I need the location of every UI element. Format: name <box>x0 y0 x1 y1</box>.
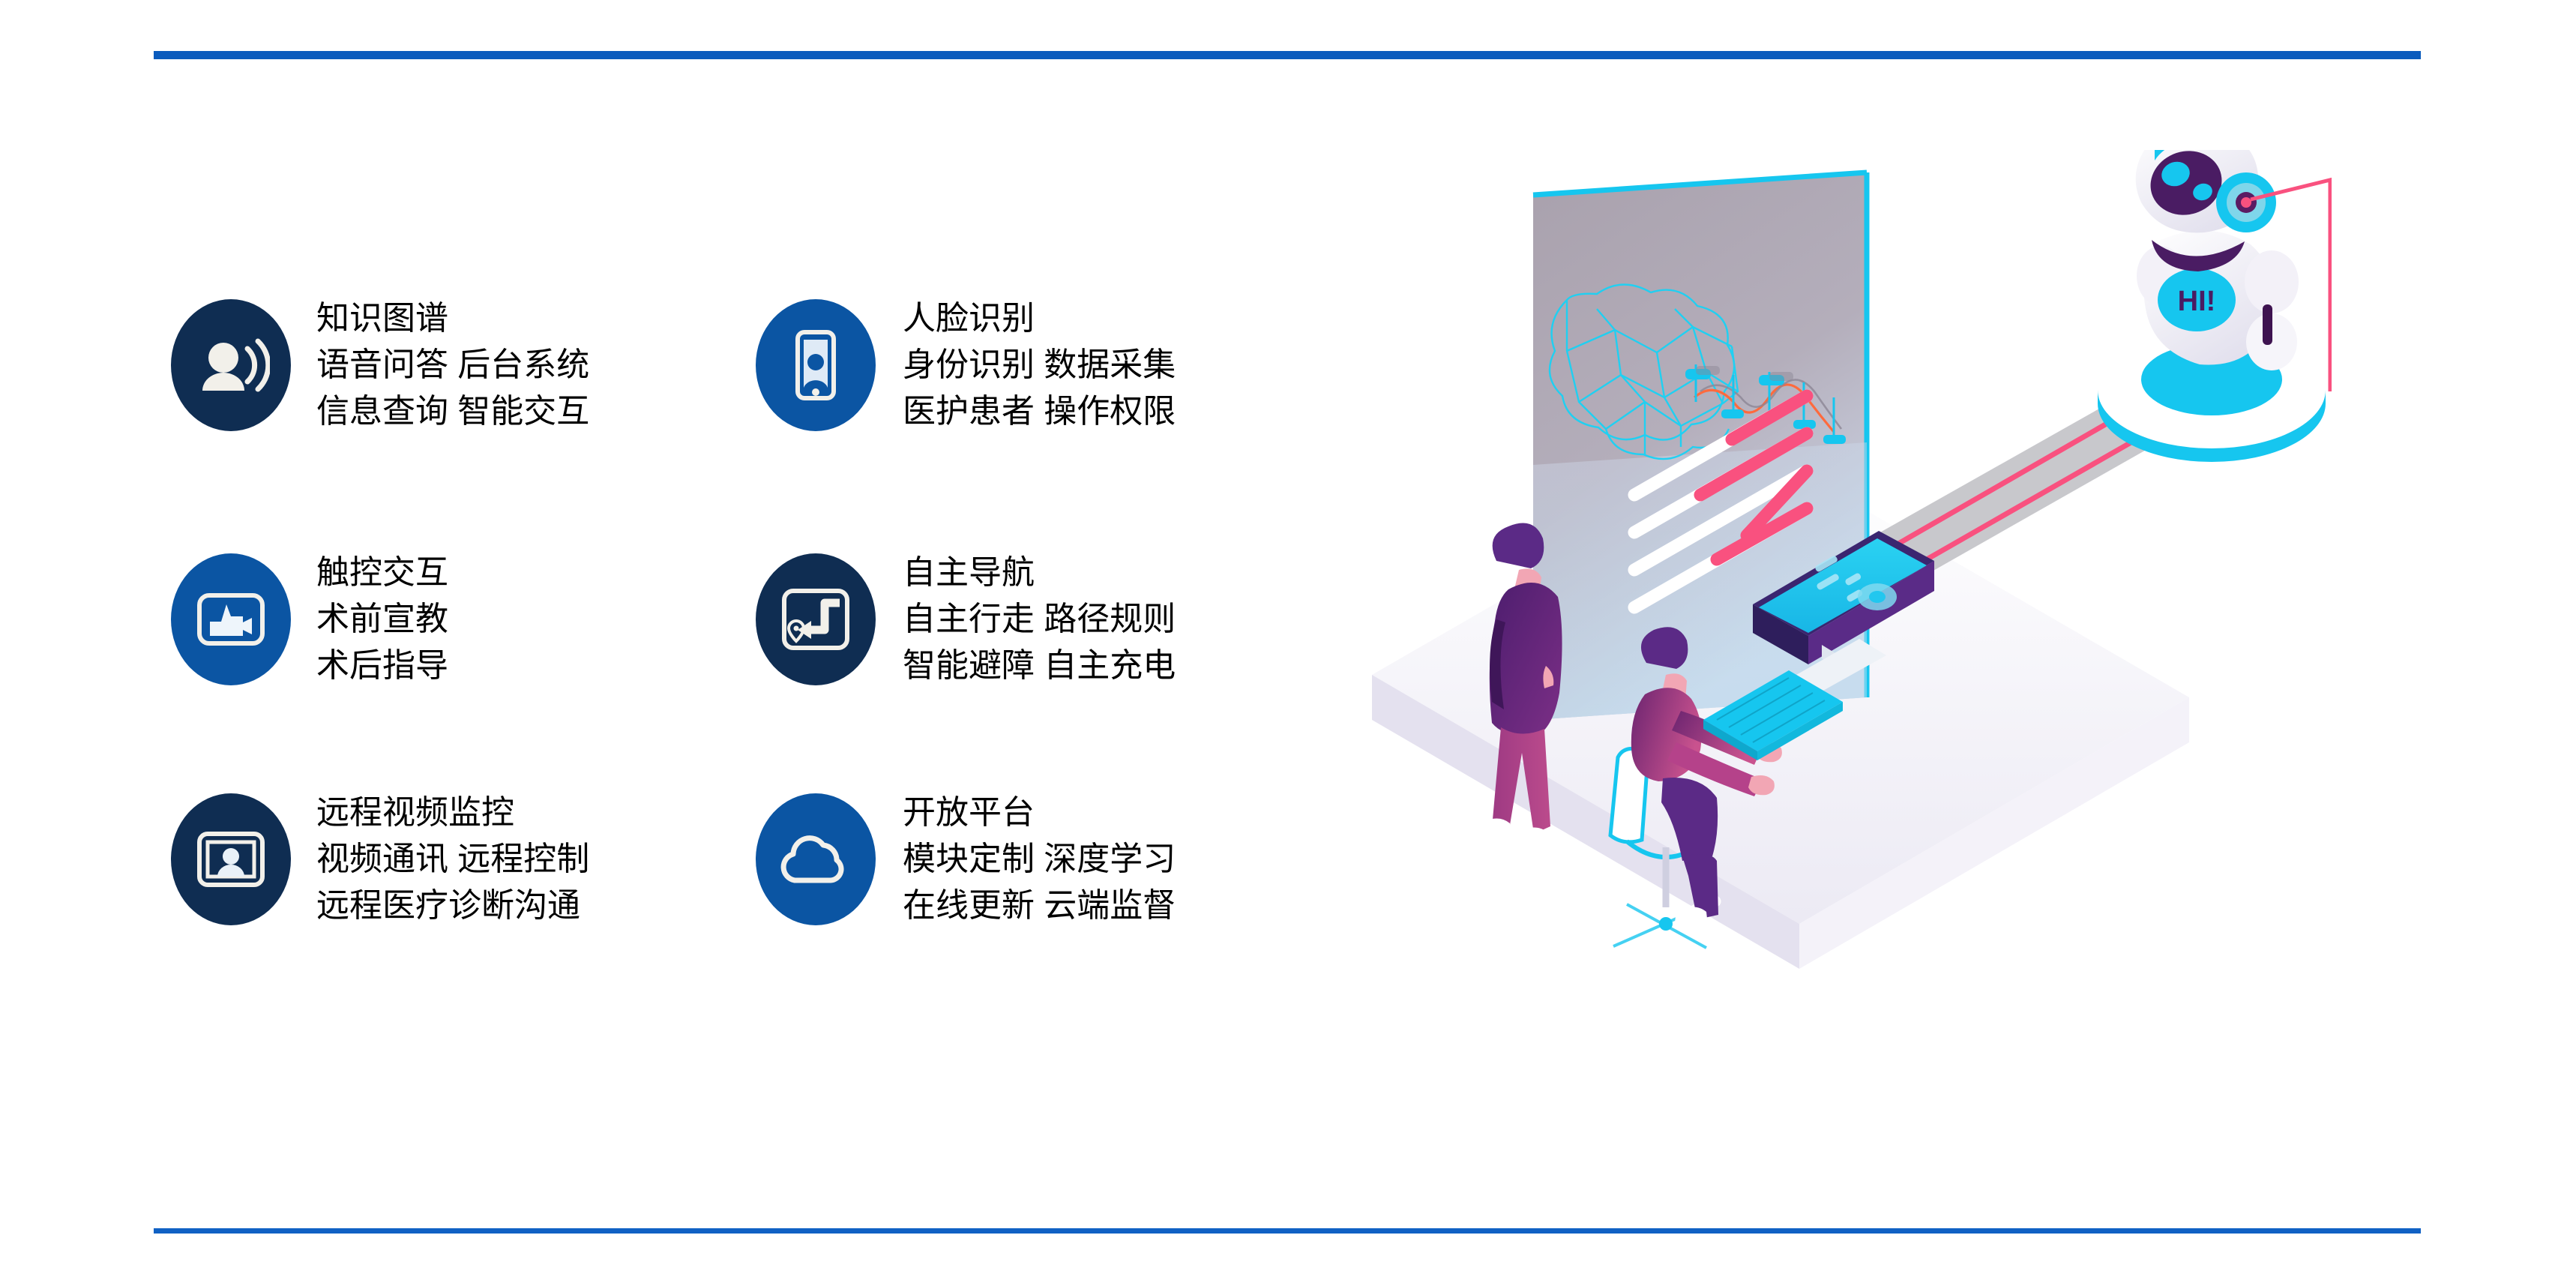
top-divider-rule <box>154 51 2421 59</box>
video-monitor-icon <box>171 793 291 925</box>
feature-line: 远程医疗诊断沟通 <box>316 883 589 929</box>
feature-item-autonomous-navigation[interactable]: 自主导航 自主行走 路径规则 智能避障 自主充电 <box>756 492 1340 747</box>
bottom-divider-rule <box>154 1228 2421 1234</box>
feature-line: 视频通讯 远程控制 <box>316 836 589 883</box>
feature-text: 人脸识别 身份识别 数据采集 医护患者 操作权限 <box>903 295 1176 435</box>
feature-item-knowledge-graph[interactable]: 知识图谱 语音问答 后台系统 信息查询 智能交互 <box>171 238 756 492</box>
feature-line: 自主导航 <box>903 550 1176 596</box>
feature-item-touch-interaction[interactable]: 触控交互 术前宣教 术后指导 <box>171 492 756 747</box>
touch-hand-icon <box>171 553 291 685</box>
feature-list: 知识图谱 语音问答 后台系统 信息查询 智能交互 人脸识别 身份识别 数据采集 … <box>171 238 1340 972</box>
service-robot: HI! <box>2098 150 2330 462</box>
feature-line: 术后指导 <box>316 643 448 689</box>
feature-line: 自主行走 路径规则 <box>903 596 1176 643</box>
robot-badge-label: HI! <box>2178 286 2216 317</box>
feature-line: 远程视频监控 <box>316 790 589 836</box>
feature-line: 触控交互 <box>316 550 448 596</box>
feature-text: 远程视频监控 视频通讯 远程控制 远程医疗诊断沟通 <box>316 790 589 929</box>
feature-line: 模块定制 深度学习 <box>903 836 1176 883</box>
feature-line: 医护患者 操作权限 <box>903 388 1176 435</box>
feature-line: 信息查询 智能交互 <box>316 388 589 435</box>
cloud-icon <box>756 793 876 925</box>
feature-line: 人脸识别 <box>903 295 1176 342</box>
feature-item-remote-video[interactable]: 远程视频监控 视频通讯 远程控制 远程医疗诊断沟通 <box>171 747 756 972</box>
feature-text: 自主导航 自主行走 路径规则 智能避障 自主充电 <box>903 550 1176 689</box>
feature-line: 在线更新 云端监督 <box>903 883 1176 929</box>
feature-text: 知识图谱 语音问答 后台系统 信息查询 智能交互 <box>316 295 589 435</box>
feature-item-face-recognition[interactable]: 人脸识别 身份识别 数据采集 医护患者 操作权限 <box>756 238 1340 492</box>
feature-row: 远程视频监控 视频通讯 远程控制 远程医疗诊断沟通 开放平台 模块定制 深度学习… <box>171 747 1340 972</box>
feature-line: 术前宣教 <box>316 596 448 643</box>
isometric-ai-hospital-scene: HI! <box>1342 150 2332 990</box>
feature-item-open-platform[interactable]: 开放平台 模块定制 深度学习 在线更新 云端监督 <box>756 747 1340 972</box>
feature-line: 身份识别 数据采集 <box>903 342 1176 388</box>
feature-line: 开放平台 <box>903 790 1176 836</box>
voice-assistant-icon <box>171 299 291 431</box>
face-recognition-icon <box>756 299 876 431</box>
feature-text: 触控交互 术前宣教 术后指导 <box>316 550 448 689</box>
feature-line: 知识图谱 <box>316 295 589 342</box>
feature-text: 开放平台 模块定制 深度学习 在线更新 云端监督 <box>903 790 1176 929</box>
navigation-route-icon <box>756 553 876 685</box>
feature-line: 语音问答 后台系统 <box>316 342 589 388</box>
feature-line: 智能避障 自主充电 <box>903 643 1176 689</box>
feature-row: 知识图谱 语音问答 后台系统 信息查询 智能交互 人脸识别 身份识别 数据采集 … <box>171 238 1340 492</box>
feature-row: 触控交互 术前宣教 术后指导 自主导航 自主行走 路径规则 智能避障 自主充电 <box>171 492 1340 747</box>
